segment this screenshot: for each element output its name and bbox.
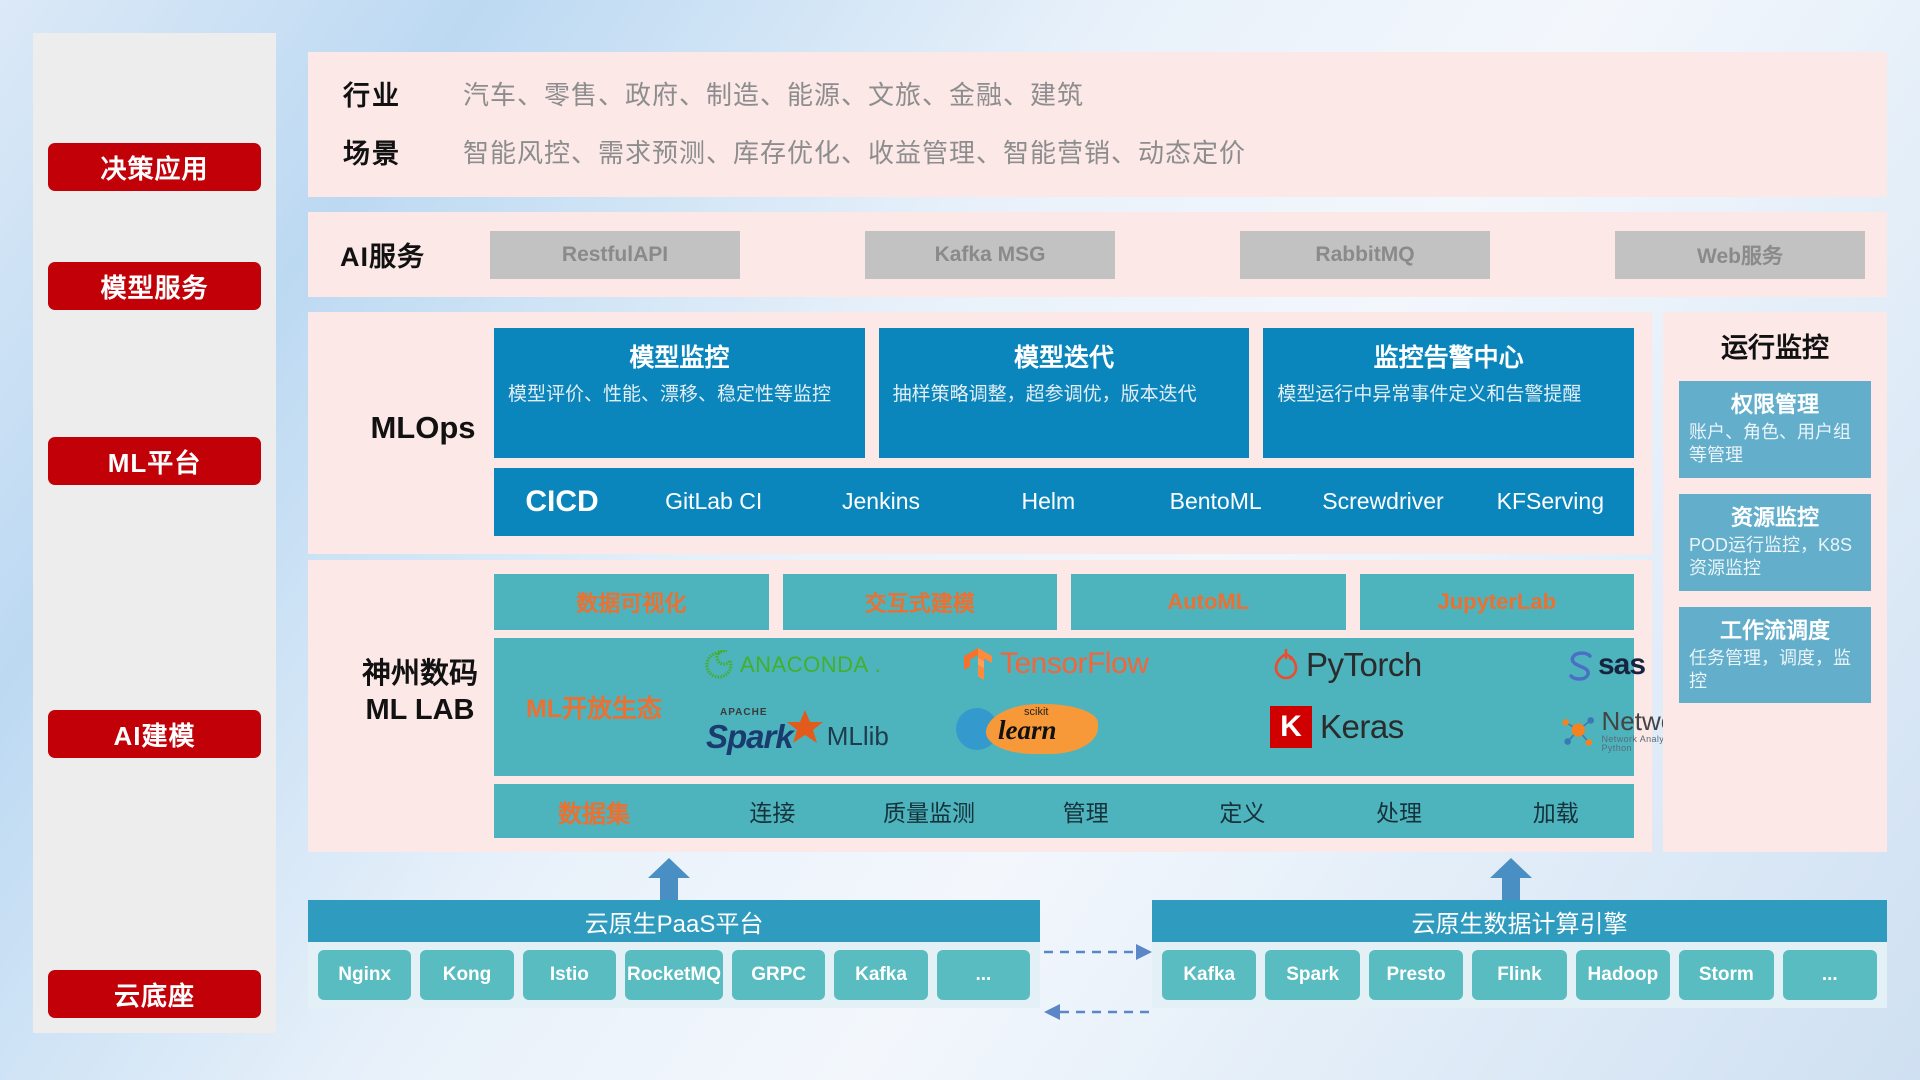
keras-mark-icon: K: [1270, 706, 1312, 748]
sas-mark-icon: [1566, 649, 1596, 681]
dataset-label: 数据集: [494, 794, 694, 829]
pytorch-logo: PyTorch: [1272, 646, 1422, 684]
layer-label-rail: 决策应用 模型服务 ML平台 AI建模 云底座: [33, 33, 276, 1033]
card-desc: POD运行监控，K8S资源监控: [1689, 534, 1861, 581]
card-desc: 任务管理，调度，监控: [1689, 647, 1861, 694]
ecosystem-logo-grid: ANACONDA . TensorFlow: [694, 638, 1634, 776]
rail-chip-label: 模型服务: [100, 268, 208, 305]
anaconda-mark-icon: [704, 650, 734, 680]
compute-chip-spark[interactable]: Spark: [1265, 950, 1359, 1000]
pytorch-mark-icon: [1272, 648, 1300, 682]
rail-chip-ai-modeling[interactable]: AI建模: [48, 710, 261, 758]
ml-open-ecosystem-row: ML开放生态 ANACONDA . Te: [494, 638, 1634, 776]
cloud-chip-istio[interactable]: Istio: [523, 950, 616, 1000]
compute-chip-hadoop[interactable]: Hadoop: [1576, 950, 1670, 1000]
tool-chip-interactive-modeling[interactable]: 交互式建模: [783, 574, 1058, 630]
tensorflow-logo: TensorFlow: [962, 646, 1148, 682]
rail-chip-ml-platform[interactable]: ML平台: [48, 437, 261, 485]
sas-logo: sas: [1566, 648, 1645, 682]
runtime-monitor-title: 运行监控: [1663, 312, 1887, 365]
card-title: 工作流调度: [1689, 613, 1861, 645]
card-title: 权限管理: [1689, 387, 1861, 419]
monitor-card-permission[interactable]: 权限管理 账户、角色、用户组等管理: [1679, 381, 1871, 478]
mlops-card-model-iteration[interactable]: 模型迭代 抽样策略调整，超参调优，版本迭代: [879, 328, 1250, 458]
scikit-orange-blob-icon: scikit learn: [986, 704, 1098, 754]
dataset-item-quality-monitor[interactable]: 质量监测: [851, 794, 1008, 828]
keras-mark-letter: K: [1280, 710, 1302, 744]
compute-chip-presto[interactable]: Presto: [1369, 950, 1463, 1000]
ml-tool-list: 数据可视化 交互式建模 AutoML JupyterLab: [494, 574, 1634, 630]
ai-service-chip-web-service[interactable]: Web服务: [1615, 231, 1865, 279]
cloud-chip-grpc[interactable]: GRPC: [732, 950, 825, 1000]
tool-chip-jupyterlab[interactable]: JupyterLab: [1360, 574, 1635, 630]
networkx-mark-icon: [1560, 712, 1596, 750]
cloud-paas-chip-list: Nginx Kong Istio RocketMQ GRPC Kafka ...: [308, 942, 1040, 1008]
mlops-card-list: 模型监控 模型评价、性能、漂移、稳定性等监控 模型迭代 抽样策略调整，超参调优，…: [494, 328, 1634, 458]
dataset-row: 数据集 连接 质量监测 管理 定义 处理 加载: [494, 784, 1634, 838]
industry-label: 行业: [343, 74, 463, 113]
mlops-label: MLOps: [338, 410, 508, 446]
compute-chip-flink[interactable]: Flink: [1472, 950, 1566, 1000]
keras-logo-text: Keras: [1320, 708, 1404, 746]
cloud-chip-rocketmq[interactable]: RocketMQ: [625, 950, 723, 1000]
dataset-item-connect[interactable]: 连接: [694, 794, 851, 828]
arrow-up-compute-icon: [1490, 858, 1532, 902]
sas-logo-text: sas: [1598, 648, 1645, 682]
mlops-card-model-monitoring[interactable]: 模型监控 模型评价、性能、漂移、稳定性等监控: [494, 328, 865, 458]
ai-service-chip-list: RestfulAPI Kafka MSG RabbitMQ Web服务: [490, 231, 1887, 279]
spark-mllib-logo: APACHE Spark MLlib: [706, 708, 889, 756]
ml-open-ecosystem-label: ML开放生态: [494, 689, 694, 725]
anaconda-logo: ANACONDA .: [704, 650, 881, 680]
card-desc: 模型运行中异常事件定义和告警提醒: [1277, 382, 1620, 407]
ml-lab-label: 神州数码 ML LAB: [330, 656, 510, 729]
pytorch-logo-text: PyTorch: [1306, 646, 1422, 684]
cicd-item-screwdriver[interactable]: Screwdriver: [1299, 490, 1466, 513]
compute-chip-storm[interactable]: Storm: [1679, 950, 1773, 1000]
mlops-band: MLOps 模型监控 模型评价、性能、漂移、稳定性等监控 模型迭代 抽样策略调整…: [308, 312, 1652, 554]
runtime-monitor-band: 运行监控 权限管理 账户、角色、用户组等管理 资源监控 POD运行监控，K8S资…: [1663, 312, 1887, 852]
card-title: 监控告警中心: [1277, 338, 1620, 374]
card-title: 资源监控: [1689, 500, 1861, 532]
ai-service-chip-restfulapi[interactable]: RestfulAPI: [490, 231, 740, 279]
cicd-item-gitlab-ci[interactable]: GitLab CI: [630, 490, 797, 513]
card-title: 模型迭代: [893, 338, 1236, 374]
cicd-item-bentoml[interactable]: BentoML: [1132, 490, 1299, 513]
spark-logo-text: Spark: [706, 718, 793, 755]
ai-service-label: AI服务: [340, 235, 490, 274]
dataset-item-manage[interactable]: 管理: [1007, 794, 1164, 828]
compute-chip-more[interactable]: ...: [1783, 950, 1877, 1000]
cloud-chip-kong[interactable]: Kong: [420, 950, 513, 1000]
rail-chip-label: AI建模: [113, 716, 195, 753]
scikit-learn-logo: scikit learn: [956, 704, 1098, 754]
card-desc: 账户、角色、用户组等管理: [1689, 421, 1861, 468]
cloud-native-paas-block: 云原生PaaS平台 Nginx Kong Istio RocketMQ GRPC…: [308, 900, 1040, 1008]
dataset-item-load[interactable]: 加载: [1477, 794, 1634, 828]
industry-value: 汽车、零售、政府、制造、能源、文旅、金融、建筑: [463, 75, 1084, 112]
arrow-up-paas-icon: [648, 858, 690, 902]
mlops-card-alert-center[interactable]: 监控告警中心 模型运行中异常事件定义和告警提醒: [1263, 328, 1634, 458]
ai-service-band: AI服务 RestfulAPI Kafka MSG RabbitMQ Web服务: [308, 212, 1887, 297]
monitor-card-resource[interactable]: 资源监控 POD运行监控，K8S资源监控: [1679, 494, 1871, 591]
rail-chip-label: ML平台: [108, 443, 202, 480]
ai-service-chip-kafka-msg[interactable]: Kafka MSG: [865, 231, 1115, 279]
rail-chip-cloud-base[interactable]: 云底座: [48, 970, 261, 1018]
spark-apache-text: APACHE: [720, 707, 767, 718]
decision-application-band: 行业 汽车、零售、政府、制造、能源、文旅、金融、建筑 场景 智能风控、需求预测、…: [308, 52, 1887, 197]
card-desc: 抽样策略调整，超参调优，版本迭代: [893, 382, 1236, 407]
rail-chip-label: 决策应用: [100, 149, 208, 186]
cicd-bar: CICD GitLab CI Jenkins Helm BentoML Scre…: [494, 468, 1634, 536]
cloud-paas-title: 云原生PaaS平台: [308, 900, 1040, 942]
ai-service-chip-rabbitmq[interactable]: RabbitMQ: [1240, 231, 1490, 279]
cicd-item-kfserving[interactable]: KFServing: [1467, 490, 1634, 513]
dataset-item-process[interactable]: 处理: [1321, 794, 1478, 828]
dataset-item-define[interactable]: 定义: [1164, 794, 1321, 828]
card-title: 模型监控: [508, 338, 851, 374]
cloud-chip-more[interactable]: ...: [937, 950, 1030, 1000]
learn-text: learn: [998, 715, 1057, 746]
mllib-logo-text: MLlib: [827, 721, 889, 752]
cloud-native-compute-block: 云原生数据计算引擎 Kafka Spark Presto Flink Hadoo…: [1152, 900, 1887, 1008]
tool-chip-automl[interactable]: AutoML: [1071, 574, 1346, 630]
keras-logo: K Keras: [1270, 706, 1404, 748]
scenario-row: 场景 智能风控、需求预测、库存优化、收益管理、智能营销、动态定价: [343, 132, 1246, 171]
ml-lab-label-line1: 神州数码: [330, 656, 510, 692]
cicd-item-helm[interactable]: Helm: [965, 490, 1132, 513]
cloud-chip-nginx[interactable]: Nginx: [318, 950, 411, 1000]
monitor-card-workflow[interactable]: 工作流调度 任务管理，调度，监控: [1679, 607, 1871, 704]
cicd-title: CICD: [494, 485, 630, 519]
anaconda-logo-dot: .: [875, 652, 881, 678]
rail-chip-model-service[interactable]: 模型服务: [48, 262, 261, 310]
tensorflow-mark-icon: [962, 646, 996, 682]
ml-lab-label-line2: ML LAB: [330, 692, 510, 728]
cloud-chip-kafka[interactable]: Kafka: [834, 950, 927, 1000]
anaconda-logo-text: ANACONDA: [740, 652, 869, 678]
rail-chip-label: 云底座: [114, 976, 195, 1013]
cicd-item-jenkins[interactable]: Jenkins: [797, 490, 964, 513]
tensorflow-logo-text: TensorFlow: [1000, 647, 1148, 681]
cloud-compute-chip-list: Kafka Spark Presto Flink Hadoop Storm ..…: [1152, 942, 1887, 1008]
cloud-compute-title: 云原生数据计算引擎: [1152, 900, 1887, 942]
industry-row: 行业 汽车、零售、政府、制造、能源、文旅、金融、建筑: [343, 74, 1084, 113]
compute-chip-kafka[interactable]: Kafka: [1162, 950, 1256, 1000]
rail-chip-decision-app[interactable]: 决策应用: [48, 143, 261, 191]
scenario-value: 智能风控、需求预测、库存优化、收益管理、智能营销、动态定价: [463, 133, 1246, 170]
card-desc: 模型评价、性能、漂移、稳定性等监控: [508, 382, 851, 407]
tool-chip-data-visualization[interactable]: 数据可视化: [494, 574, 769, 630]
architecture-diagram: 决策应用 模型服务 ML平台 AI建模 云底座 行业 汽车、零售、政府、制造、能…: [0, 0, 1920, 1080]
scenario-label: 场景: [343, 132, 463, 171]
ml-lab-band: 神州数码 ML LAB 数据可视化 交互式建模 AutoML JupyterLa…: [308, 560, 1652, 852]
bidirectional-link-arrows: [1040, 930, 1156, 1040]
